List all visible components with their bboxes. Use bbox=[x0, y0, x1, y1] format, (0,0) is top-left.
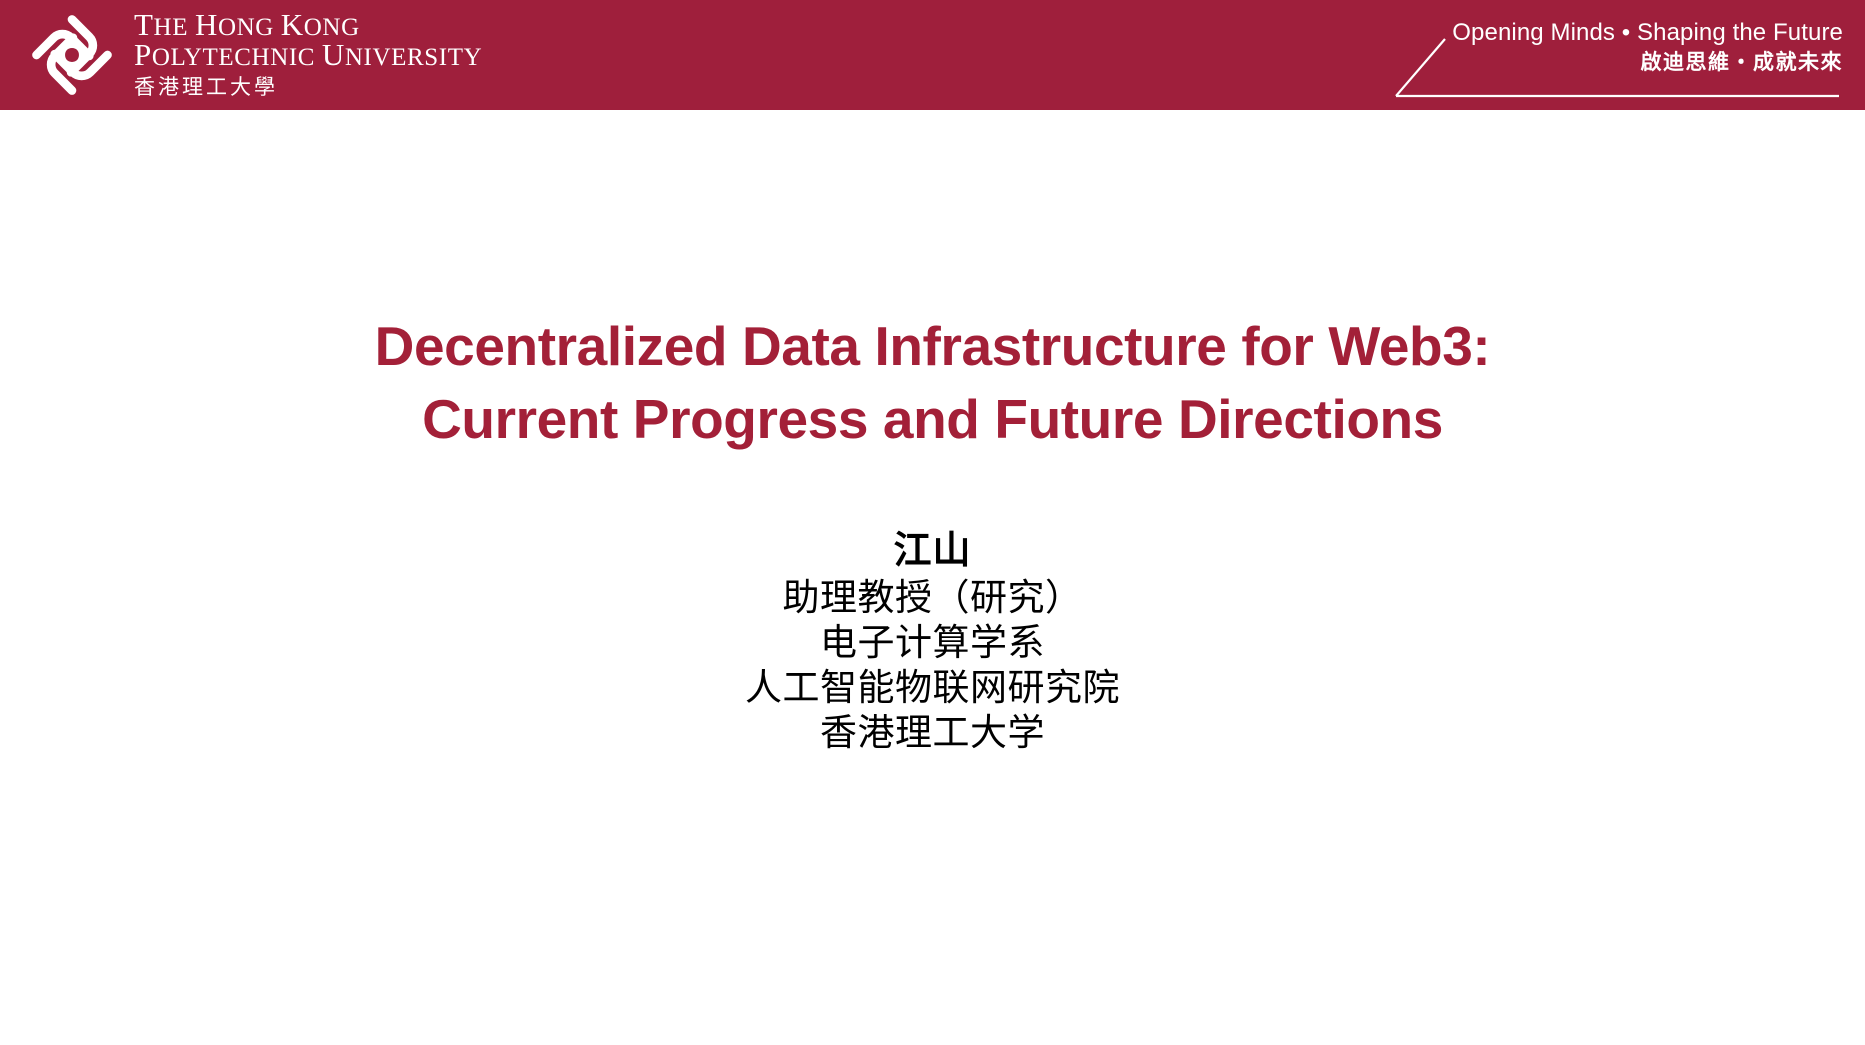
motto-english: Opening Minds • Shaping the Future bbox=[1452, 18, 1843, 48]
university-name-zh: 香港理工大學 bbox=[134, 74, 482, 100]
page-title-line1: Decentralized Data Infrastructure for We… bbox=[0, 310, 1865, 383]
slide-content: Decentralized Data Infrastructure for We… bbox=[0, 110, 1865, 1045]
university-motto-block: Opening Minds • Shaping the Future 啟迪思維・… bbox=[1323, 12, 1843, 98]
author-department: 电子计算学系 bbox=[0, 620, 1865, 665]
polyu-knot-logo-icon bbox=[24, 7, 120, 103]
title-slide: THE HONG KONG POLYTECHNIC UNIVERSITY 香港理… bbox=[0, 0, 1865, 1045]
university-name-en-line1: THE HONG KONG bbox=[134, 11, 482, 41]
author-affiliation-block: 江山 助理教授（研究） 电子计算学系 人工智能物联网研究院 香港理工大学 bbox=[0, 525, 1865, 755]
author-name: 江山 bbox=[0, 525, 1865, 575]
motto-chinese: 啟迪思維・成就未來 bbox=[1452, 48, 1843, 77]
header-bar: THE HONG KONG POLYTECHNIC UNIVERSITY 香港理… bbox=[0, 0, 1865, 110]
university-logo-lockup[interactable]: THE HONG KONG POLYTECHNIC UNIVERSITY 香港理… bbox=[24, 6, 482, 104]
author-position: 助理教授（研究） bbox=[0, 575, 1865, 620]
page-title-line2: Current Progress and Future Directions bbox=[0, 383, 1865, 456]
university-name-en-line2: POLYTECHNIC UNIVERSITY bbox=[134, 41, 482, 72]
university-motto-text: Opening Minds • Shaping the Future 啟迪思維・… bbox=[1452, 18, 1843, 77]
author-university: 香港理工大学 bbox=[0, 710, 1865, 755]
page-title: Decentralized Data Infrastructure for We… bbox=[0, 310, 1865, 456]
author-institute: 人工智能物联网研究院 bbox=[0, 665, 1865, 710]
university-wordmark: THE HONG KONG POLYTECHNIC UNIVERSITY 香港理… bbox=[134, 11, 482, 100]
